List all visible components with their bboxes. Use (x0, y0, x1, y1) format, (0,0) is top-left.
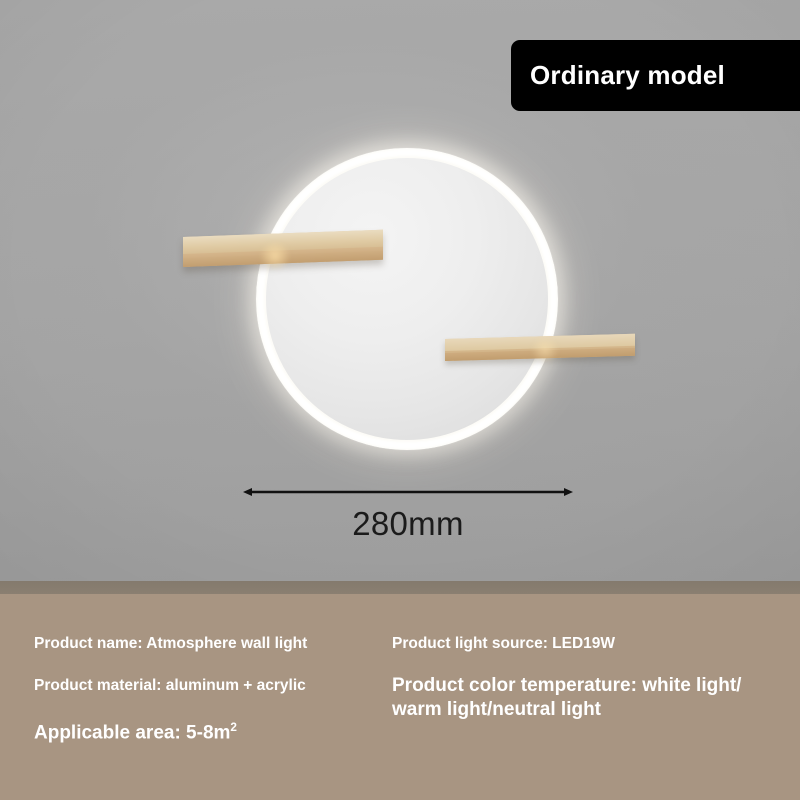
led-ring-highlight (257, 149, 557, 449)
spec-applicable-area-superscript: 2 (230, 721, 237, 734)
spec-light-source: Product light source: LED19W (392, 634, 787, 654)
spec-product-name: Product name: Atmosphere wall light (34, 634, 379, 654)
spec-panel: Product name: Atmosphere wall light Prod… (0, 594, 800, 800)
product-photo: 280mm Ordinary model (0, 0, 800, 581)
spec-applicable-area: Applicable area: 5-8m2 (34, 720, 379, 746)
spec-column-left: Product name: Atmosphere wall light Prod… (34, 634, 379, 745)
spec-applicable-area-text: Applicable area: 5-8m (34, 722, 230, 743)
spec-color-temperature-line1: Product color temperature: white light/ (392, 674, 787, 698)
spec-color-temperature-line2: warm light/neutral light (392, 698, 787, 722)
panel-divider-strip (0, 581, 800, 594)
model-banner: Ordinary model (511, 40, 800, 111)
model-banner-label: Ordinary model (511, 60, 725, 91)
dimension-arrow (238, 478, 578, 508)
spec-product-material: Product material: aluminum + acrylic (34, 676, 379, 696)
wall-light-fixture (256, 148, 558, 450)
light-spill-lower (530, 338, 560, 362)
light-spill-upper (258, 243, 292, 269)
spec-column-right: Product light source: LED19W Product col… (392, 634, 787, 722)
product-spec-image: 280mm Ordinary model Product name: Atmos… (0, 0, 800, 800)
dimension-label: 280mm (238, 505, 578, 543)
